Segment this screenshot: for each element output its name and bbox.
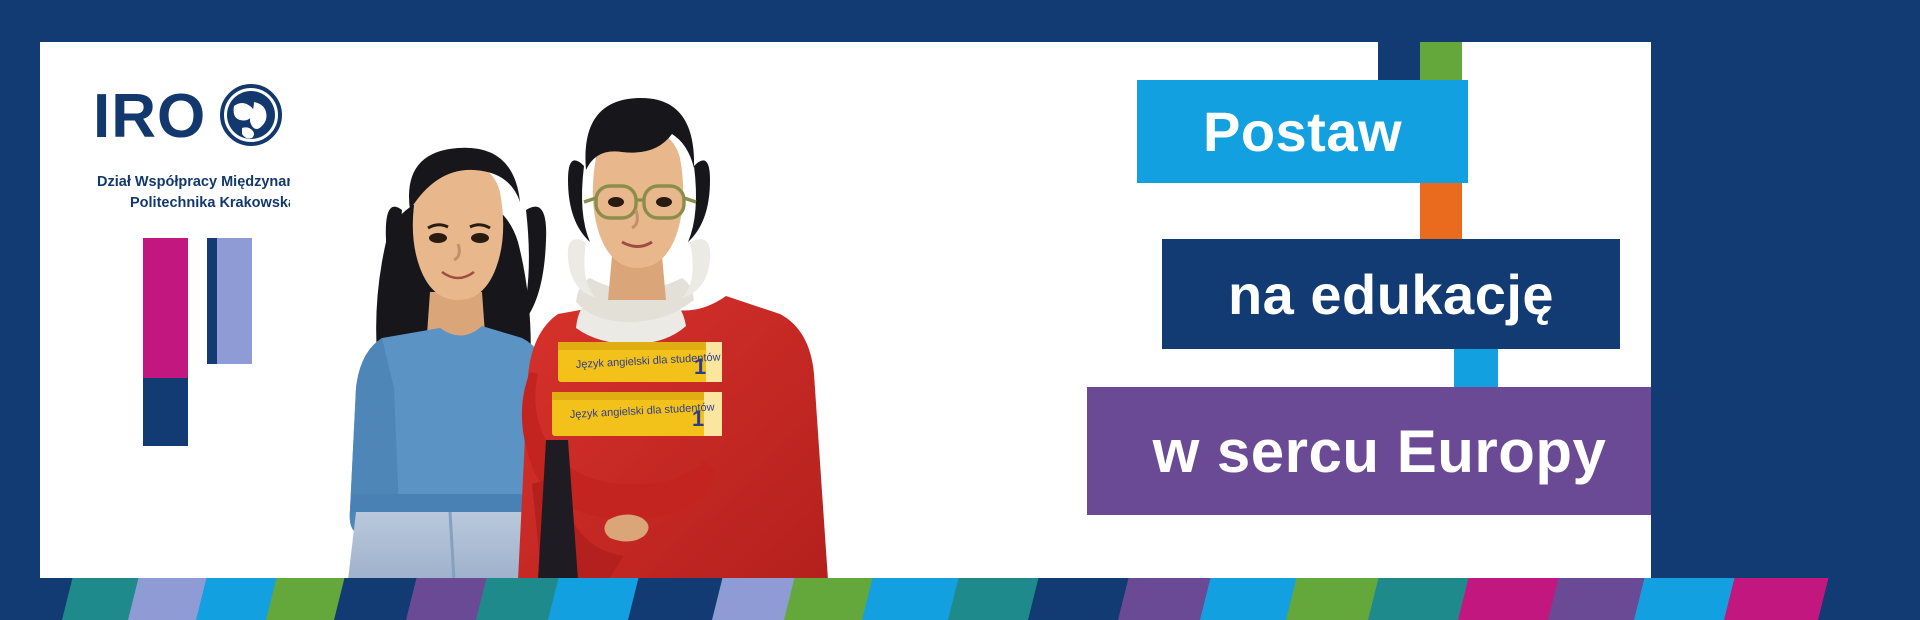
headline-block-3: w sercu Europy — [1087, 387, 1651, 515]
mosaic-shard — [1818, 578, 1920, 620]
svg-text:1: 1 — [692, 406, 704, 431]
globe-icon — [220, 84, 282, 151]
headline-text-3: w sercu Europy — [1153, 417, 1607, 486]
iro-wordmark: IRO — [93, 86, 206, 148]
headline-text-2: na edukację — [1228, 262, 1554, 327]
bar-navy-small — [143, 378, 188, 446]
bar-magenta — [143, 238, 188, 378]
iro-logo[interactable]: IRO Dział Współpracy Międzynarodowej Pol… — [85, 64, 325, 214]
logo-line-2: Politechnika Krakowska — [130, 195, 296, 211]
svg-text:1: 1 — [694, 354, 706, 379]
bar-navy-thin — [207, 238, 217, 364]
headline-block-2: na edukację — [1162, 239, 1620, 349]
banner-canvas: IRO Dział Współpracy Międzynarodowej Pol… — [40, 42, 1651, 580]
bottom-mosaic-stripe — [0, 578, 1920, 620]
two-students-with-books-photo: Język angielski dla studentów 1 Język an… — [290, 42, 870, 580]
headline-block-1: Postaw — [1137, 80, 1468, 183]
headline-text-1: Postaw — [1203, 99, 1402, 164]
promo-banner: IRO Dział Współpracy Międzynarodowej Pol… — [0, 0, 1920, 620]
